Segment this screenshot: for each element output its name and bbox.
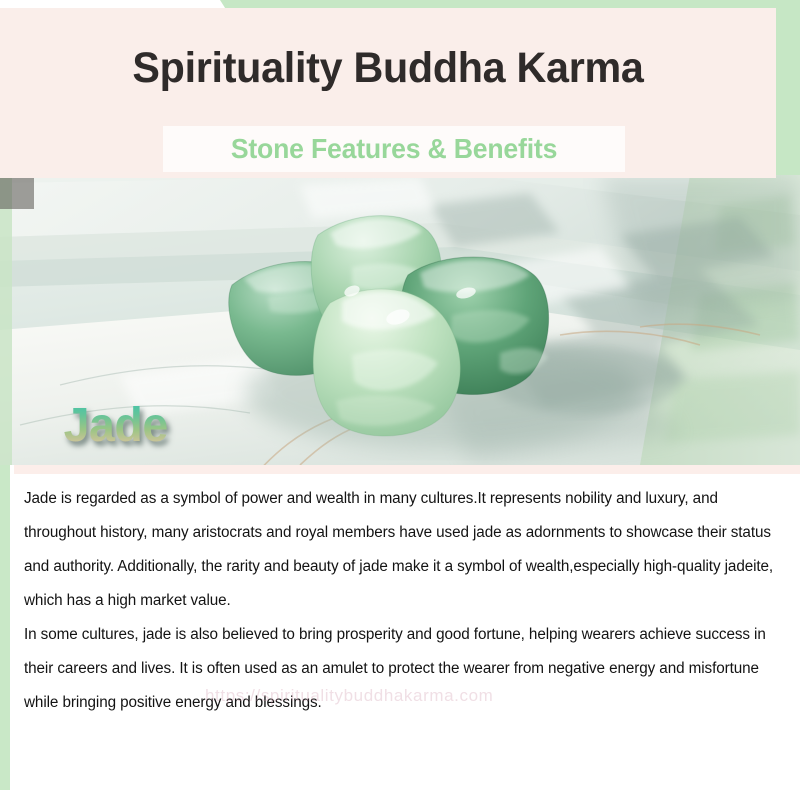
paragraph-1: Jade is regarded as a symbol of power an… [24,482,779,618]
left-green-accent-rail [0,465,10,790]
right-green-accent-rail [776,0,800,185]
page-title: Spirituality Buddha Karma [16,44,761,93]
subtitle-band: Stone Features & Benefits [163,126,625,172]
body-copy: Jade is regarded as a symbol of power an… [24,482,790,720]
pink-separator-strip [14,465,800,474]
header-panel: Spirituality Buddha Karma Stone Features… [0,8,776,178]
infographic-page: Spirituality Buddha Karma Stone Features… [0,0,800,800]
paragraph-2: In some cultures, jade is also believed … [24,618,779,720]
hero-stone-name: Jade [64,398,168,453]
page-subtitle: Stone Features & Benefits [175,126,614,172]
